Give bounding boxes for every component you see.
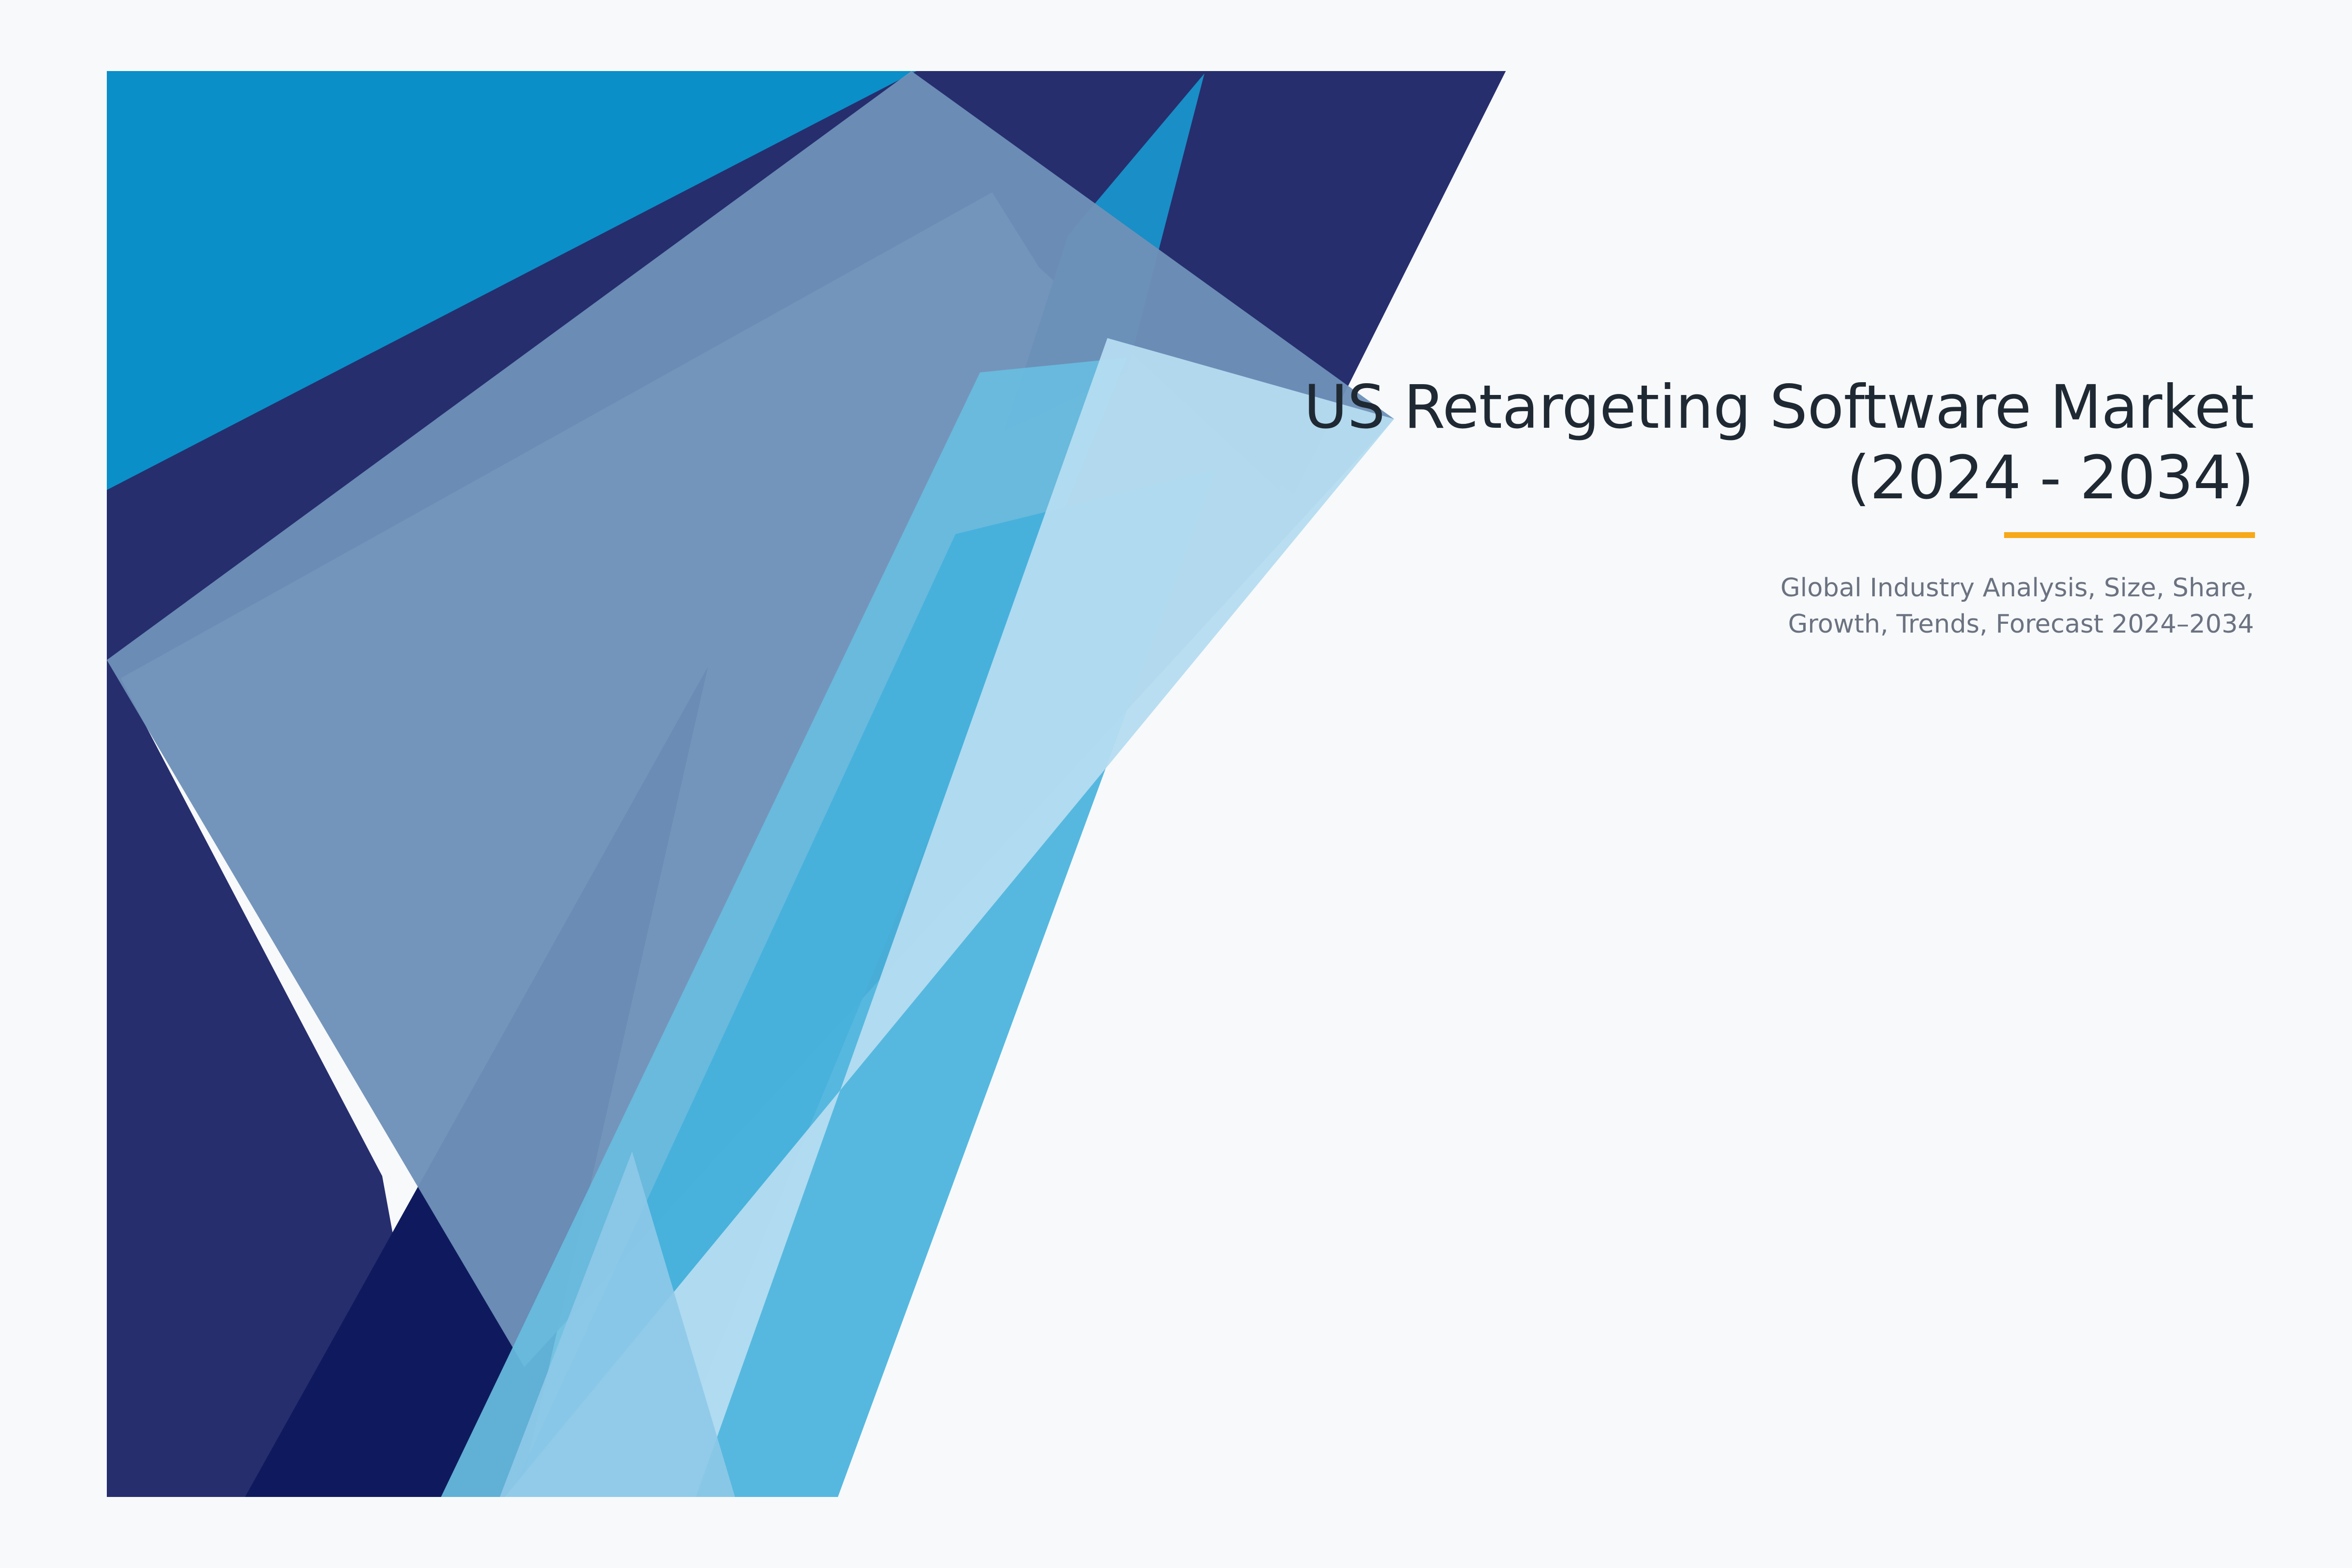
page-subtitle: Global Industry Analysis, Size, Share, G…	[980, 570, 2254, 643]
cover-text-block: US Retargeting Software Market (2024 - 2…	[980, 372, 2254, 643]
navy-deep-center-wedge	[245, 666, 708, 1497]
navy-deep-left-wedge	[107, 652, 441, 1497]
page-title: US Retargeting Software Market (2024 - 2…	[980, 372, 2254, 514]
slate-translucent-quad	[107, 71, 1394, 1367]
abstract-polygon-graphic	[0, 0, 2352, 1568]
azure-top-left-field	[107, 71, 916, 500]
orange-accent-underline	[2004, 532, 2255, 538]
report-cover-slide: US Retargeting Software Market (2024 - 2…	[0, 0, 2352, 1568]
pale-blue-bottom-wedge	[500, 1151, 735, 1497]
